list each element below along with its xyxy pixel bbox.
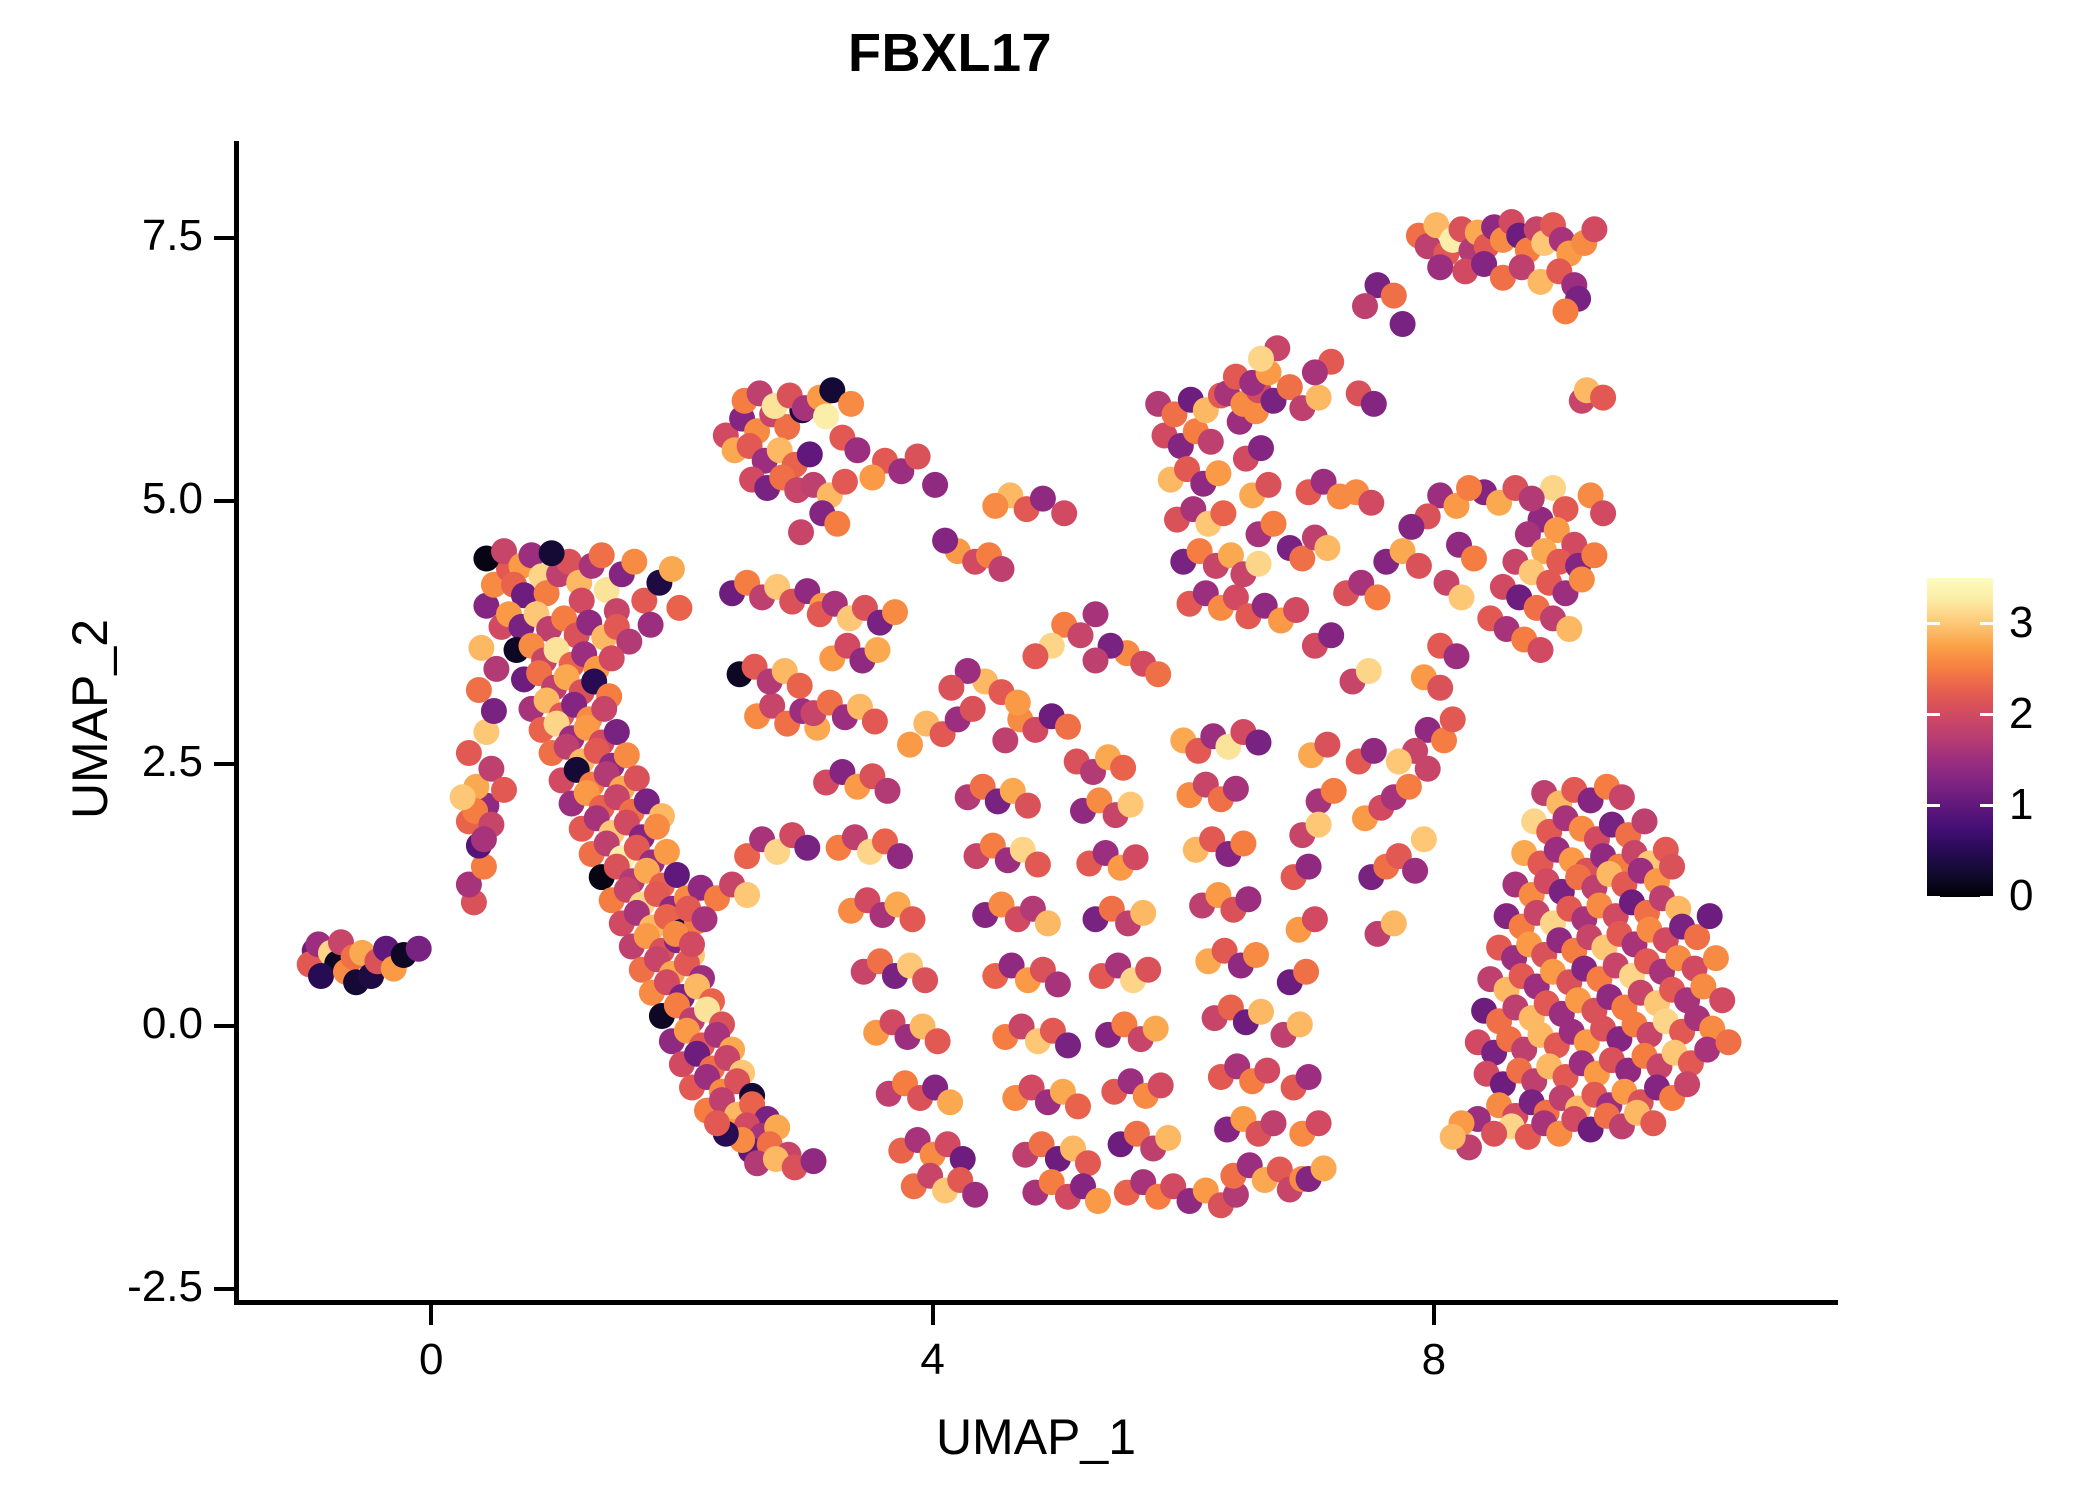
scatter-point <box>1609 784 1635 810</box>
scatter-point <box>844 437 870 463</box>
scatter-point <box>794 835 820 861</box>
scatter-point <box>1246 551 1272 577</box>
scatter-point <box>1528 637 1554 663</box>
scatter-point <box>1306 1110 1332 1136</box>
scatter-point <box>1314 732 1340 758</box>
scatter-point <box>1085 1188 1111 1214</box>
scatter-point <box>1068 622 1094 648</box>
colorbar-tick-label: 0 <box>2009 874 2099 918</box>
scatter-point <box>1519 486 1545 512</box>
scatter-point <box>1065 1093 1091 1119</box>
y-tick-label: -2.5 <box>3 1265 203 1309</box>
scatter-point <box>1581 216 1607 242</box>
scatter-point <box>1261 1110 1287 1136</box>
scatter-point <box>1556 616 1582 642</box>
scatter-points-layer <box>237 141 1835 1302</box>
scatter-point <box>1296 1064 1322 1090</box>
scatter-point <box>1148 1072 1174 1098</box>
x-tick-label: 8 <box>1354 1338 1514 1382</box>
scatter-point <box>1083 648 1109 674</box>
scatter-point <box>897 732 923 758</box>
scatter-point <box>865 637 891 663</box>
scatter-point <box>859 465 885 491</box>
scatter-point <box>589 542 615 568</box>
scatter-point <box>1198 429 1224 455</box>
scatter-point <box>1283 597 1309 623</box>
scatter-point <box>992 727 1018 753</box>
colorbar-gradient <box>1927 578 1993 897</box>
scatter-point <box>599 645 625 671</box>
scatter-point <box>1569 567 1595 593</box>
y-axis-line <box>234 141 239 1304</box>
scatter-point <box>1444 643 1470 669</box>
scatter-point <box>1248 346 1274 372</box>
y-tick-label: 7.5 <box>3 214 203 258</box>
x-tick-mark <box>931 1304 935 1325</box>
scatter-point <box>1456 475 1482 501</box>
scatter-point <box>1318 622 1344 648</box>
x-axis-line <box>234 1300 1838 1305</box>
scatter-point <box>644 814 670 840</box>
scatter-point <box>1306 812 1332 838</box>
scatter-point <box>1390 311 1416 337</box>
scatter-point <box>1302 906 1328 932</box>
scatter-point <box>1230 831 1256 857</box>
scatter-point <box>1311 1155 1337 1181</box>
scatter-point <box>734 882 760 908</box>
scatter-point <box>832 469 858 495</box>
scatter-point <box>456 740 482 766</box>
scatter-point <box>1640 1110 1666 1136</box>
y-tick-mark <box>214 1287 235 1291</box>
scatter-point <box>638 612 664 638</box>
scatter-point <box>1398 514 1424 540</box>
y-tick-mark <box>214 1024 235 1028</box>
scatter-point <box>308 963 334 989</box>
scatter-point <box>1481 1121 1507 1147</box>
scatter-point <box>1314 535 1340 561</box>
x-tick-mark <box>1432 1304 1436 1325</box>
scatter-point <box>1256 472 1282 498</box>
scatter-point <box>1361 391 1387 417</box>
scatter-point <box>471 826 497 852</box>
colorbar-tick-mark <box>1927 804 1940 807</box>
scatter-point <box>1427 254 1453 280</box>
scatter-point <box>1590 385 1616 411</box>
scatter-point <box>882 599 908 625</box>
scatter-point <box>614 742 640 768</box>
scatter-point <box>1381 910 1407 936</box>
scatter-point <box>1051 500 1077 526</box>
scatter-point <box>813 404 839 430</box>
y-tick-mark <box>214 762 235 766</box>
scatter-point <box>664 862 690 888</box>
plot-panel <box>237 141 1835 1302</box>
scatter-point <box>1703 945 1729 971</box>
x-axis-title: UMAP_1 <box>237 1408 1835 1466</box>
scatter-point <box>1296 854 1322 880</box>
scatter-point <box>788 519 814 545</box>
scatter-point <box>1145 661 1171 687</box>
scatter-point <box>1123 844 1149 870</box>
scatter-point <box>1246 730 1272 756</box>
x-tick-label: 0 <box>351 1338 511 1382</box>
scatter-point <box>466 677 492 703</box>
scatter-point <box>1083 601 1109 627</box>
scatter-point <box>654 839 680 865</box>
colorbar-tick-mark <box>1927 713 1940 716</box>
scatter-point <box>624 765 650 791</box>
scatter-point <box>1143 1016 1169 1042</box>
scatter-point <box>468 635 494 661</box>
scatter-point <box>1302 359 1328 385</box>
scatter-point <box>481 698 507 724</box>
scatter-point <box>862 709 888 735</box>
colorbar-tick-mark <box>1980 896 1993 899</box>
scatter-point <box>1553 298 1579 324</box>
scatter-point <box>1075 1150 1101 1176</box>
scatter-point <box>962 1182 988 1208</box>
scatter-point <box>1130 900 1156 926</box>
scatter-point <box>1440 706 1466 732</box>
scatter-point <box>1449 584 1475 610</box>
scatter-point <box>679 931 705 957</box>
x-tick-mark <box>429 1304 433 1325</box>
scatter-point <box>1205 460 1231 486</box>
scatter-point <box>912 967 938 993</box>
scatter-point <box>1210 500 1236 526</box>
scatter-point <box>1030 486 1056 512</box>
scatter-point <box>704 1110 730 1136</box>
umap-feature-plot-figure: FBXL17 -2.50.02.55.07.5 048 UMAP_1 UMAP_… <box>0 0 2100 1500</box>
scatter-point <box>1396 774 1422 800</box>
scatter-point <box>875 778 901 804</box>
scatter-point <box>1135 957 1161 983</box>
scatter-point <box>937 1089 963 1115</box>
colorbar-tick-mark <box>1980 622 1993 625</box>
scatter-point <box>1406 553 1432 579</box>
scatter-point <box>1005 690 1031 716</box>
scatter-point <box>692 906 718 932</box>
scatter-point <box>604 719 630 745</box>
scatter-point <box>1118 792 1144 818</box>
scatter-point <box>1356 658 1382 684</box>
scatter-point <box>1243 942 1269 968</box>
scatter-point <box>450 784 476 810</box>
colorbar-legend: 0123 <box>1927 578 2097 898</box>
scatter-point <box>1632 808 1658 834</box>
scatter-point <box>1709 987 1735 1013</box>
scatter-point <box>932 528 958 554</box>
scatter-point <box>1254 1058 1280 1084</box>
scatter-point <box>1461 546 1487 572</box>
x-tick-label: 4 <box>853 1338 1013 1382</box>
scatter-point <box>539 540 565 566</box>
scatter-point <box>1287 1011 1313 1037</box>
colorbar-tick-mark <box>1927 622 1940 625</box>
scatter-point <box>659 556 685 582</box>
scatter-point <box>925 1028 951 1054</box>
scatter-point <box>1411 826 1437 852</box>
scatter-point <box>838 391 864 417</box>
scatter-point <box>922 472 948 498</box>
scatter-point <box>887 843 913 869</box>
scatter-point <box>801 1148 827 1174</box>
scatter-point <box>1025 852 1051 878</box>
scatter-point <box>1110 755 1136 781</box>
scatter-point <box>1223 776 1249 802</box>
scatter-point <box>1321 778 1347 804</box>
scatter-point <box>1697 903 1723 929</box>
scatter-point <box>1581 542 1607 568</box>
scatter-point <box>1381 283 1407 309</box>
page-title: FBXL17 <box>0 22 1900 84</box>
scatter-point <box>1352 293 1378 319</box>
scatter-point <box>1358 490 1384 516</box>
scatter-point <box>1261 511 1287 537</box>
scatter-point <box>1248 999 1274 1025</box>
scatter-point <box>905 444 931 470</box>
scatter-point <box>666 595 692 621</box>
y-tick-mark <box>214 236 235 240</box>
scatter-point <box>1306 385 1332 411</box>
scatter-point <box>1440 1124 1466 1150</box>
scatter-point <box>1590 500 1616 526</box>
scatter-point <box>1386 749 1412 775</box>
scatter-point <box>960 696 986 722</box>
scatter-point <box>621 549 647 575</box>
scatter-point <box>1402 858 1428 884</box>
y-tick-mark <box>214 499 235 503</box>
scatter-point <box>982 493 1008 519</box>
scatter-point <box>1022 643 1048 669</box>
scatter-point <box>483 656 509 682</box>
scatter-point <box>1055 714 1081 740</box>
colorbar-tick-label: 3 <box>2009 601 2099 645</box>
colorbar-tick-mark <box>1980 713 1993 716</box>
colorbar-tick-mark <box>1927 896 1940 899</box>
colorbar-tick-label: 2 <box>2009 692 2099 736</box>
scatter-point <box>787 673 813 699</box>
scatter-point <box>1015 793 1041 819</box>
scatter-point <box>1155 1125 1181 1151</box>
scatter-point <box>1716 1029 1742 1055</box>
scatter-point <box>1361 738 1387 764</box>
scatter-point <box>797 441 823 467</box>
scatter-point <box>1674 1071 1700 1097</box>
scatter-point <box>1427 675 1453 701</box>
scatter-point <box>1055 1032 1081 1058</box>
scatter-point <box>1293 959 1319 985</box>
scatter-point <box>824 511 850 537</box>
scatter-point <box>1365 584 1391 610</box>
y-axis-title: UMAP_2 <box>61 319 119 1119</box>
colorbar-tick-label: 1 <box>2009 783 2099 827</box>
colorbar-tick-mark <box>1980 804 1993 807</box>
scatter-point <box>1035 910 1061 936</box>
scatter-point <box>1659 854 1685 880</box>
scatter-point <box>491 777 517 803</box>
scatter-point <box>1045 971 1071 997</box>
scatter-point <box>406 936 432 962</box>
scatter-point <box>1248 435 1274 461</box>
scatter-point <box>1235 886 1261 912</box>
scatter-point <box>989 556 1015 582</box>
scatter-point <box>900 906 926 932</box>
scatter-point <box>938 675 964 701</box>
